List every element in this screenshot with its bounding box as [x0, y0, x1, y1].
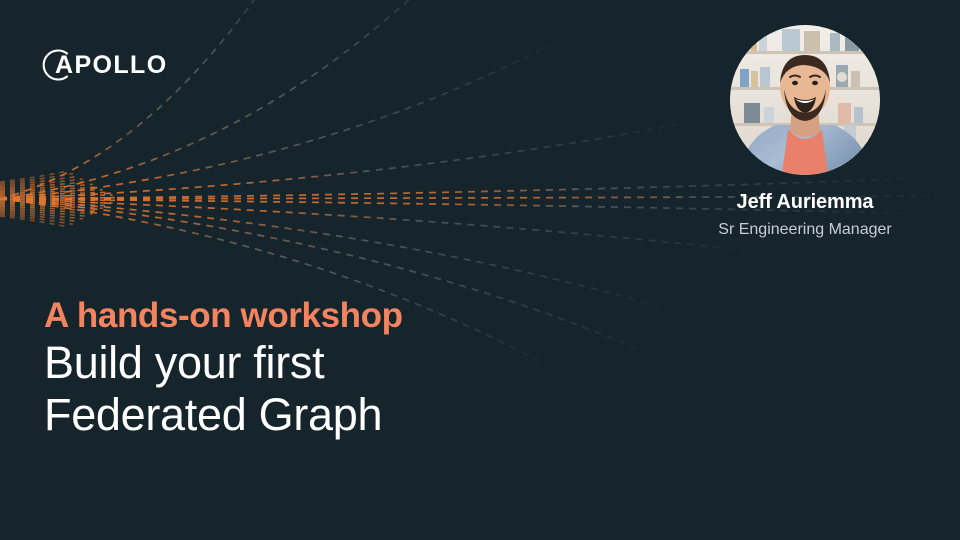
eyebrow-text: A hands-on workshop — [44, 296, 604, 337]
speaker-block: Jeff Auriemma Sr Engineering Manager — [680, 25, 930, 239]
speaker-role: Sr Engineering Manager — [680, 220, 930, 239]
apollo-logo: APOLLO — [36, 44, 168, 86]
page-title: Build your first Federated Graph — [44, 337, 604, 441]
speaker-name: Jeff Auriemma — [680, 190, 930, 214]
title-line-2: Federated Graph — [44, 389, 604, 441]
apollo-circle-mark — [36, 45, 76, 85]
title-line-1: Build your first — [44, 337, 604, 389]
presentation-slide: APOLLO A hands-on workshop Build your fi… — [0, 0, 960, 540]
headline-block: A hands-on workshop Build your first Fed… — [44, 296, 604, 441]
avatar — [730, 25, 880, 175]
